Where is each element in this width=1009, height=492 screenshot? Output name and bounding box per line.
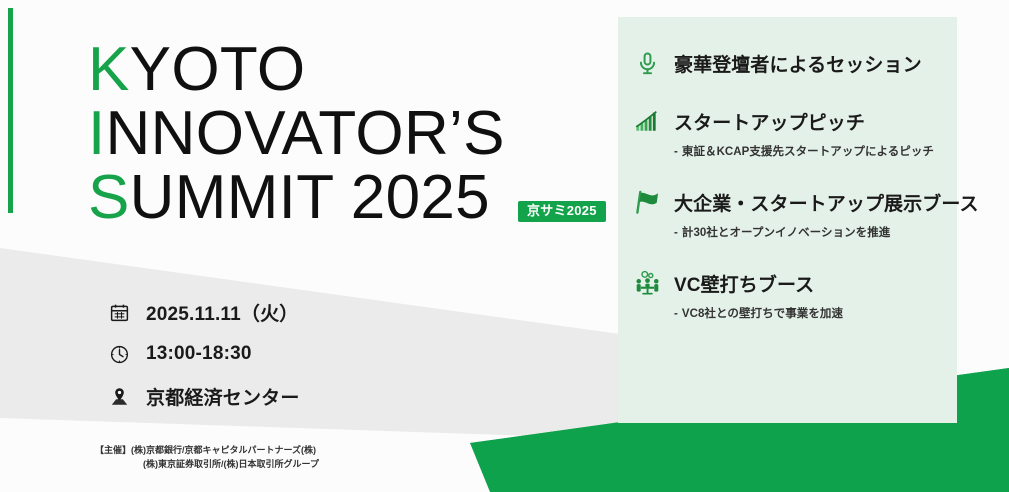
feature-vc-booth-title: VC壁打ちブース	[674, 270, 814, 297]
detail-row-time: 13:00-18:30	[108, 338, 300, 370]
feature-session-head: 豪華登壇者によるセッション	[632, 48, 957, 78]
growth-chart-icon	[632, 106, 662, 136]
clock-icon	[108, 343, 130, 365]
feature-vc-booth-sub-text: VC8社との壁打ちで事業を加速	[682, 308, 843, 320]
flag-icon	[632, 187, 662, 217]
title-rest-summit: UMMIT 2025	[130, 163, 490, 232]
event-banner: KYOTO INNOVATOR’S SUMMIT 2025京サミ2025	[0, 0, 1009, 492]
organizers-footer: 【主催】(株)京都銀行/京都キャピタルパートナーズ(株) (株)東京証券取引所/…	[95, 444, 319, 472]
title-initial-i: I	[88, 99, 106, 168]
feature-exhibition-booth-head: 大企業・スタートアップ展示ブース	[632, 187, 957, 217]
detail-text-date: 2025.11.11（火）	[146, 299, 298, 326]
detail-text-location: 京都経済センター	[146, 383, 300, 410]
calendar-icon	[108, 301, 130, 323]
feature-exhibition-booth-sub-text: 計30社とオープンイノベーションを推進	[682, 227, 890, 239]
feature-exhibition-booth: 大企業・スタートアップ展示ブース -計30社とオープンイノベーションを推進	[632, 187, 957, 240]
feature-session: 豪華登壇者によるセッション	[632, 48, 957, 78]
feature-vc-booth: VC壁打ちブース -VC8社との壁打ちで事業を加速	[632, 268, 957, 321]
feature-startup-pitch: スタートアップピッチ -東証＆KCAP支援先スタートアップによるピッチ	[632, 106, 957, 159]
detail-row-date: 2025.11.11（火）	[108, 296, 300, 328]
title-line-1: KYOTO	[88, 40, 608, 100]
sub-dash: -	[674, 308, 678, 320]
title-initial-s: S	[88, 163, 130, 232]
detail-row-location: 京都経済センター	[108, 380, 300, 412]
location-pin-icon	[108, 385, 130, 407]
meeting-people-icon	[632, 268, 662, 298]
short-name-badge: 京サミ2025	[518, 201, 606, 223]
detail-text-time: 13:00-18:30	[146, 343, 252, 365]
organizers-line-1: 【主催】(株)京都銀行/京都キャピタルパートナーズ(株)	[95, 444, 319, 458]
sub-dash: -	[674, 227, 678, 239]
feature-startup-pitch-sub: -東証＆KCAP支援先スタートアップによるピッチ	[674, 143, 957, 159]
feature-startup-pitch-head: スタートアップピッチ	[632, 106, 957, 136]
page-title: KYOTO INNOVATOR’S SUMMIT 2025京サミ2025	[88, 40, 608, 228]
feature-exhibition-booth-title: 大企業・スタートアップ展示ブース	[674, 189, 979, 216]
title-rest-innovators: NNOVATOR’S	[106, 99, 505, 168]
feature-startup-pitch-title: スタートアップピッチ	[674, 108, 865, 135]
feature-list: 豪華登壇者によるセッション	[632, 48, 957, 349]
feature-vc-booth-sub: -VC8社との壁打ちで事業を加速	[674, 305, 957, 321]
title-initial-k: K	[88, 35, 130, 104]
feature-exhibition-booth-sub: -計30社とオープンイノベーションを推進	[674, 224, 957, 240]
sub-dash: -	[674, 146, 678, 158]
event-details-list: 2025.11.11（火） 13:00-18:30	[108, 296, 300, 422]
left-column: KYOTO INNOVATOR’S SUMMIT 2025京サミ2025	[0, 0, 618, 492]
feature-startup-pitch-sub-text: 東証＆KCAP支援先スタートアップによるピッチ	[682, 146, 934, 158]
features-panel: 豪華登壇者によるセッション	[618, 17, 957, 423]
organizers-line-2: (株)東京証券取引所/(株)日本取引所グループ	[95, 458, 319, 472]
title-rest-kyoto: YOTO	[130, 35, 306, 104]
title-line-3: SUMMIT 2025京サミ2025	[88, 168, 608, 228]
title-line-2: INNOVATOR’S	[88, 104, 608, 164]
feature-vc-booth-head: VC壁打ちブース	[632, 268, 957, 298]
microphone-icon	[632, 48, 662, 78]
feature-session-title: 豪華登壇者によるセッション	[674, 50, 922, 77]
